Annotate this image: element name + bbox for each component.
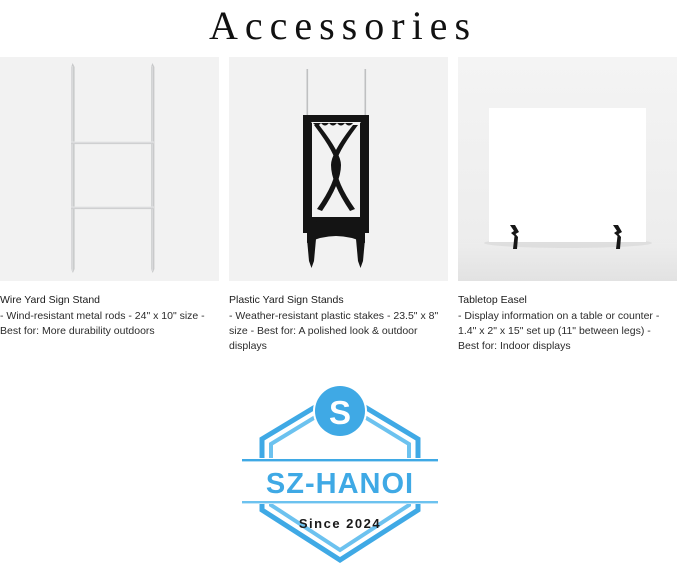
product-grid: Wire Yard Sign Stand - Wind-resistant me…: [0, 57, 679, 354]
product-card[interactable]: Wire Yard Sign Stand - Wind-resistant me…: [0, 57, 219, 354]
brand-logo: S SZ-HANOI Since 2024: [0, 372, 679, 572]
product-name: Tabletop Easel: [458, 293, 671, 308]
product-name: Wire Yard Sign Stand: [0, 293, 213, 308]
product-image[interactable]: [229, 57, 448, 281]
logo-monogram: S: [328, 394, 350, 431]
product-caption: Plastic Yard Sign Stands - Weather-resis…: [229, 281, 442, 354]
product-description: - Weather-resistant plastic stakes - 23.…: [229, 309, 442, 354]
product-name: Plastic Yard Sign Stands: [229, 293, 442, 308]
logo-wordmark: SZ-HANOI: [265, 468, 413, 500]
product-description: - Wind-resistant metal rods - 24" x 10" …: [0, 309, 213, 339]
product-card[interactable]: Plastic Yard Sign Stands - Weather-resis…: [229, 57, 448, 354]
logo-tagline: Since 2024: [298, 516, 380, 531]
product-card[interactable]: Tabletop Easel - Display information on …: [458, 57, 677, 354]
sz-hanoi-logo-icon: S SZ-HANOI Since 2024: [240, 372, 440, 572]
product-image[interactable]: [0, 57, 219, 281]
product-caption: Tabletop Easel - Display information on …: [458, 281, 671, 354]
plastic-yard-sign-stakes-icon: [229, 57, 448, 281]
product-description: - Display information on a table or coun…: [458, 309, 671, 354]
tabletop-easel-icon: [458, 57, 677, 281]
page-title: Accessories: [0, 2, 679, 50]
product-caption: Wire Yard Sign Stand - Wind-resistant me…: [0, 281, 213, 339]
wire-yard-sign-stand-icon: [0, 57, 219, 281]
product-image[interactable]: [458, 57, 677, 281]
